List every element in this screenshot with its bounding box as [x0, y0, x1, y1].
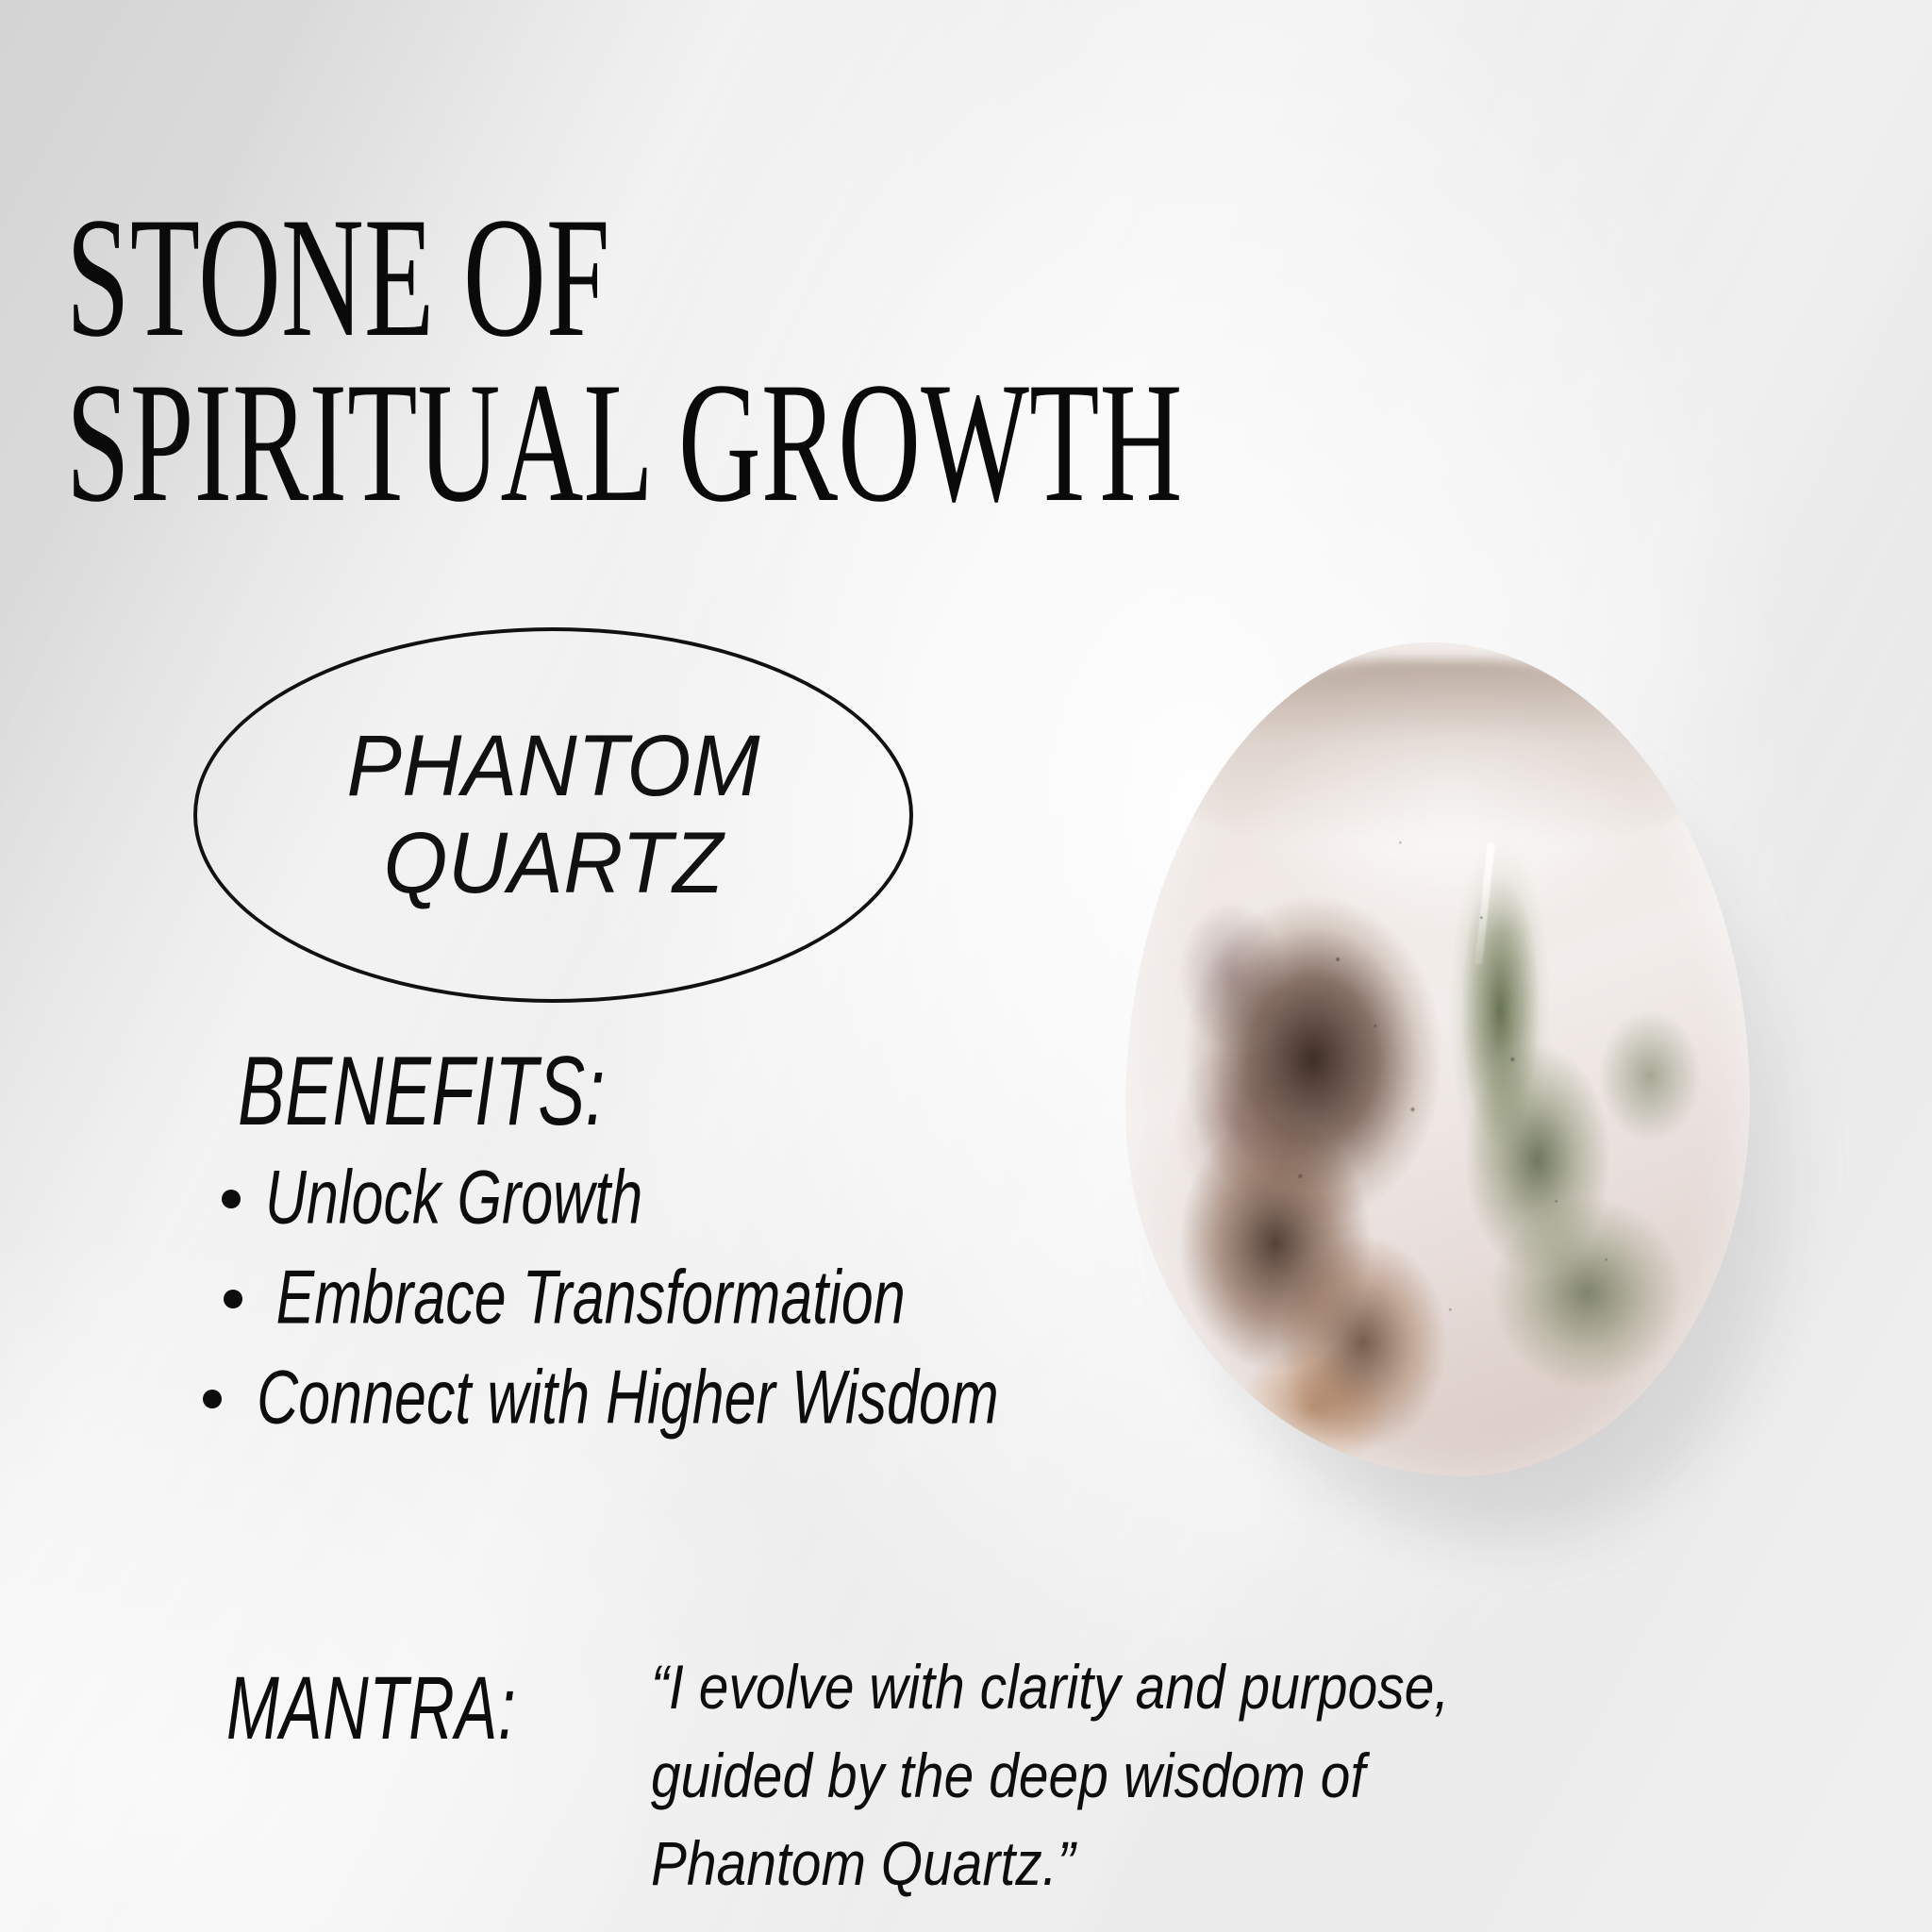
headline-line-1: STONE OF: [66, 193, 1515, 362]
bullet-dot-icon: [203, 1390, 222, 1408]
bullet-dot-icon: [222, 1190, 241, 1208]
benefits-heading: BENEFITS:: [238, 1036, 606, 1148]
mantra-line-1: “I evolve with clarity and purpose,: [651, 1643, 1641, 1732]
crystal-top-band: [1175, 659, 1700, 842]
stone-name-badge: PHANTOM QUARTZ: [193, 627, 913, 1003]
list-item: Unlock Growth: [222, 1162, 1241, 1234]
mantra-line-3: Phantom Quartz.”: [651, 1820, 1641, 1908]
bullet-dot-icon: [224, 1290, 242, 1308]
phantom-quartz-stone: [1125, 642, 1750, 1476]
benefits-list: Unlock Growth Embrace Transformation Con…: [203, 1162, 1241, 1462]
crystal-photo: [1125, 642, 1786, 1567]
benefit-label: Embrace Transformation: [259, 1260, 906, 1337]
crystal-needle-inclusion: [1475, 842, 1496, 965]
badge-line-1: PHANTOM: [346, 718, 759, 815]
mantra-label: MANTRA:: [226, 1657, 517, 1760]
benefit-label: Unlock Growth: [258, 1160, 642, 1237]
mantra-quote: “I evolve with clarity and purpose, guid…: [651, 1643, 1641, 1908]
headline-line-2: SPIRITUAL GROWTH: [66, 358, 1515, 527]
mantra-line-2: guided by the deep wisdom of: [651, 1732, 1641, 1821]
benefit-label: Connect with Higher Wisdom: [239, 1360, 999, 1437]
badge-line-2: QUARTZ: [383, 815, 723, 912]
list-item: Connect with Higher Wisdom: [203, 1362, 1241, 1434]
page-title: STONE OF SPIRITUAL GROWTH: [66, 193, 1877, 499]
poster-canvas: STONE OF SPIRITUAL GROWTH PHANTOM QUARTZ…: [0, 0, 1932, 1932]
list-item: Embrace Transformation: [224, 1262, 1241, 1334]
